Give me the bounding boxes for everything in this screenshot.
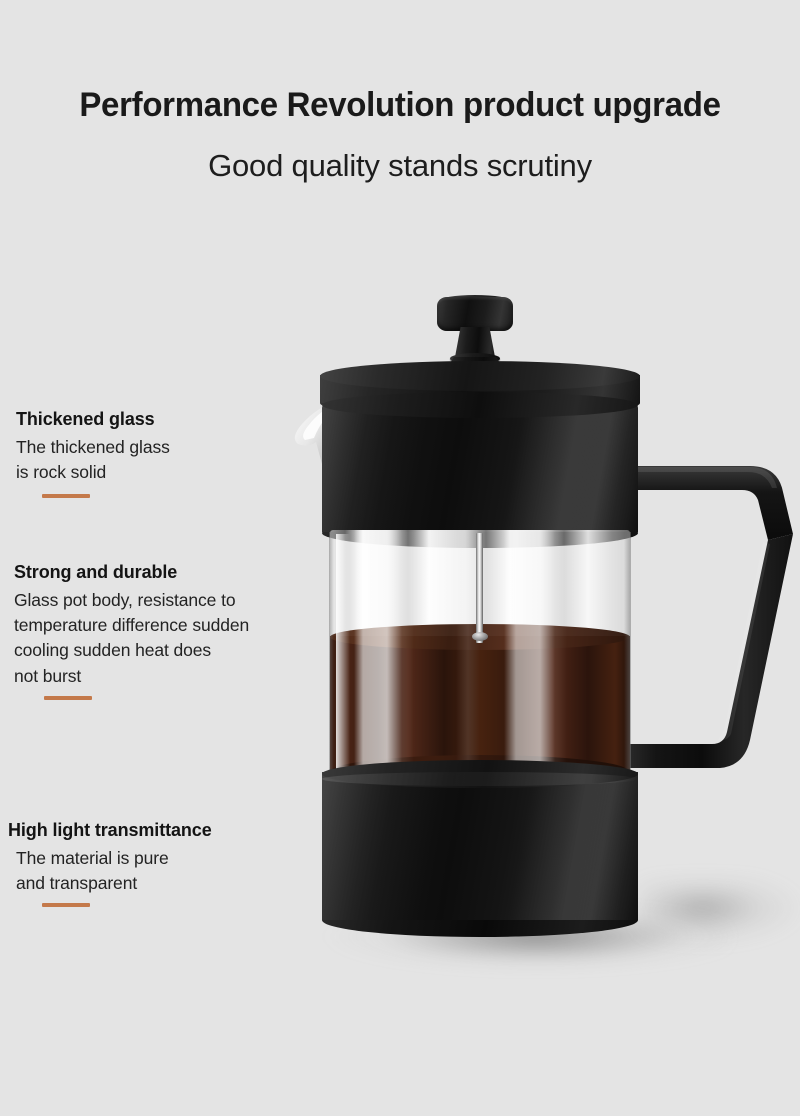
feature-title: Thickened glass bbox=[16, 409, 170, 430]
feature-line: temperature difference sudden bbox=[14, 613, 249, 638]
base-collar bbox=[322, 772, 638, 920]
accent-underline bbox=[42, 494, 90, 498]
feature-line: is rock solid bbox=[16, 460, 170, 485]
feature-line: not burst bbox=[14, 664, 249, 689]
feature-strong-and-durable: Strong and durable Glass pot body, resis… bbox=[14, 562, 249, 700]
plunger-rod-tip bbox=[472, 632, 488, 641]
feature-title: Strong and durable bbox=[14, 562, 249, 583]
feature-high-light-transmittance: High light transmittance The material is… bbox=[8, 820, 212, 907]
accent-underline bbox=[44, 696, 92, 700]
feature-thickened-glass: Thickened glass The thickened glass is r… bbox=[16, 409, 170, 498]
glass-left-edge bbox=[329, 532, 334, 780]
side-shadow bbox=[640, 880, 800, 950]
plunger-knob bbox=[437, 297, 513, 331]
feature-line: Glass pot body, resistance to bbox=[14, 588, 249, 613]
feature-line: The material is pure bbox=[16, 846, 212, 871]
base-rim bbox=[322, 772, 638, 786]
glass-right-edge bbox=[624, 532, 631, 780]
collar-top-edge bbox=[322, 392, 638, 418]
feature-line: The thickened glass bbox=[16, 435, 170, 460]
feature-title: High light transmittance bbox=[8, 820, 212, 841]
accent-underline bbox=[42, 903, 90, 907]
product-infographic: Performance Revolution product upgrade G… bbox=[0, 0, 800, 1116]
feature-line: and transparent bbox=[16, 871, 212, 896]
plunger-rod bbox=[476, 533, 483, 643]
upper-collar bbox=[322, 404, 638, 532]
feature-line: cooling sudden heat does bbox=[14, 638, 249, 663]
lid-top bbox=[320, 361, 640, 391]
french-press-illustration bbox=[0, 0, 800, 1116]
